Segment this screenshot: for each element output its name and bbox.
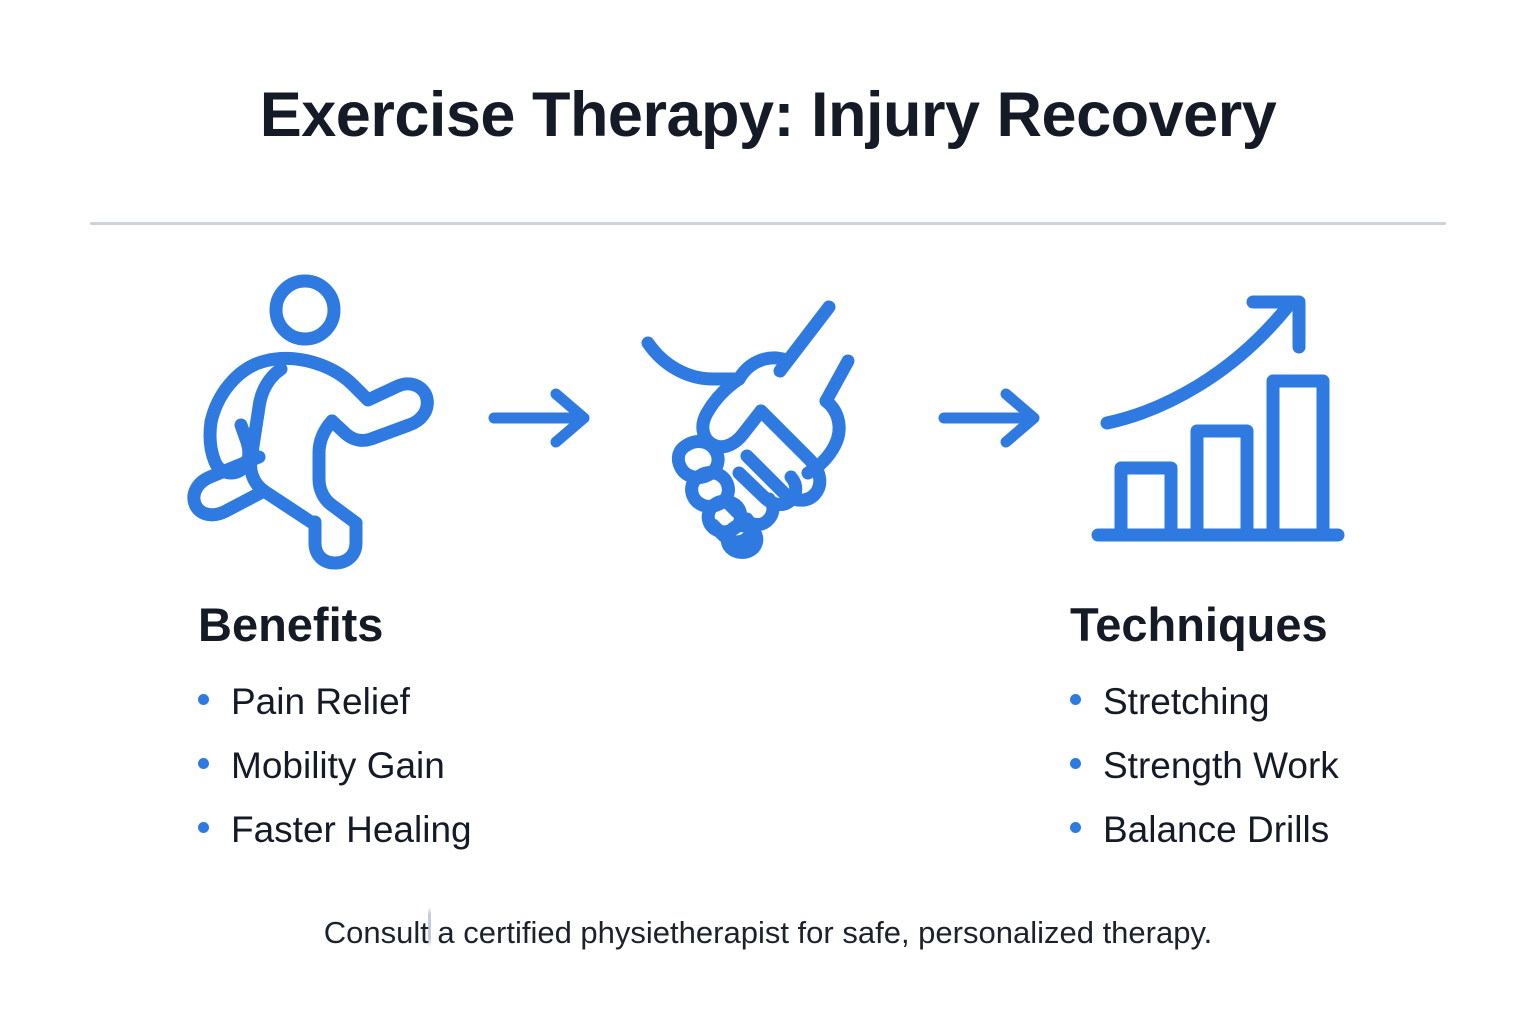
list-item-label: Faster Healing xyxy=(231,811,472,848)
bullet-dot-icon xyxy=(1070,822,1081,833)
list-item-label: Strength Work xyxy=(1103,747,1339,784)
bullet-dot-icon xyxy=(1070,758,1081,769)
arrow-right-icon xyxy=(488,388,598,448)
header-divider xyxy=(90,222,1446,225)
running-person-icon xyxy=(193,273,443,563)
bullet-dot-icon xyxy=(198,758,209,769)
bullet-dot-icon xyxy=(198,694,209,705)
benefits-heading: Benefits xyxy=(198,600,758,649)
footer-note-label: Consult a certified physietherapist for … xyxy=(324,915,1213,950)
handshake-icon xyxy=(643,293,893,543)
process-step-progress xyxy=(1073,273,1363,563)
list-item: Balance Drills xyxy=(1070,811,1490,848)
list-item: Faster Healing xyxy=(198,811,758,848)
slide-canvas: Exercise Therapy: Injury Recovery xyxy=(0,0,1536,1024)
page-title: Exercise Therapy: Injury Recovery xyxy=(0,82,1536,148)
growth-bar-chart-icon xyxy=(1093,283,1343,553)
list-item: Stretching xyxy=(1070,683,1490,720)
title-area: Exercise Therapy: Injury Recovery xyxy=(0,82,1536,148)
column-techniques: Techniques Stretching Strength Work Bala… xyxy=(1070,600,1490,875)
process-step-partnership xyxy=(623,273,913,563)
process-step-exercise xyxy=(173,273,463,563)
list-item-label: Mobility Gain xyxy=(231,747,445,784)
list-item: Mobility Gain xyxy=(198,747,758,784)
list-item: Strength Work xyxy=(1070,747,1490,784)
process-flow-row xyxy=(0,268,1536,568)
footer-note-inner: Consult a certified physietherapist for … xyxy=(324,915,1213,951)
arrow-right-icon xyxy=(938,388,1048,448)
list-item-label: Balance Drills xyxy=(1103,811,1329,848)
process-connector-2 xyxy=(913,273,1073,563)
footer-note: Consult a certified physietherapist for … xyxy=(0,915,1536,951)
techniques-heading: Techniques xyxy=(1070,600,1490,649)
list-item: Pain Relief xyxy=(198,683,758,720)
column-benefits: Benefits Pain Relief Mobility Gain Faste… xyxy=(198,600,758,875)
benefits-list: Pain Relief Mobility Gain Faster Healing xyxy=(198,683,758,848)
list-item-label: Pain Relief xyxy=(231,683,410,720)
list-item-label: Stretching xyxy=(1103,683,1270,720)
techniques-list: Stretching Strength Work Balance Drills xyxy=(1070,683,1490,848)
bullet-dot-icon xyxy=(198,822,209,833)
process-connector-1 xyxy=(463,273,623,563)
bullet-dot-icon xyxy=(1070,694,1081,705)
